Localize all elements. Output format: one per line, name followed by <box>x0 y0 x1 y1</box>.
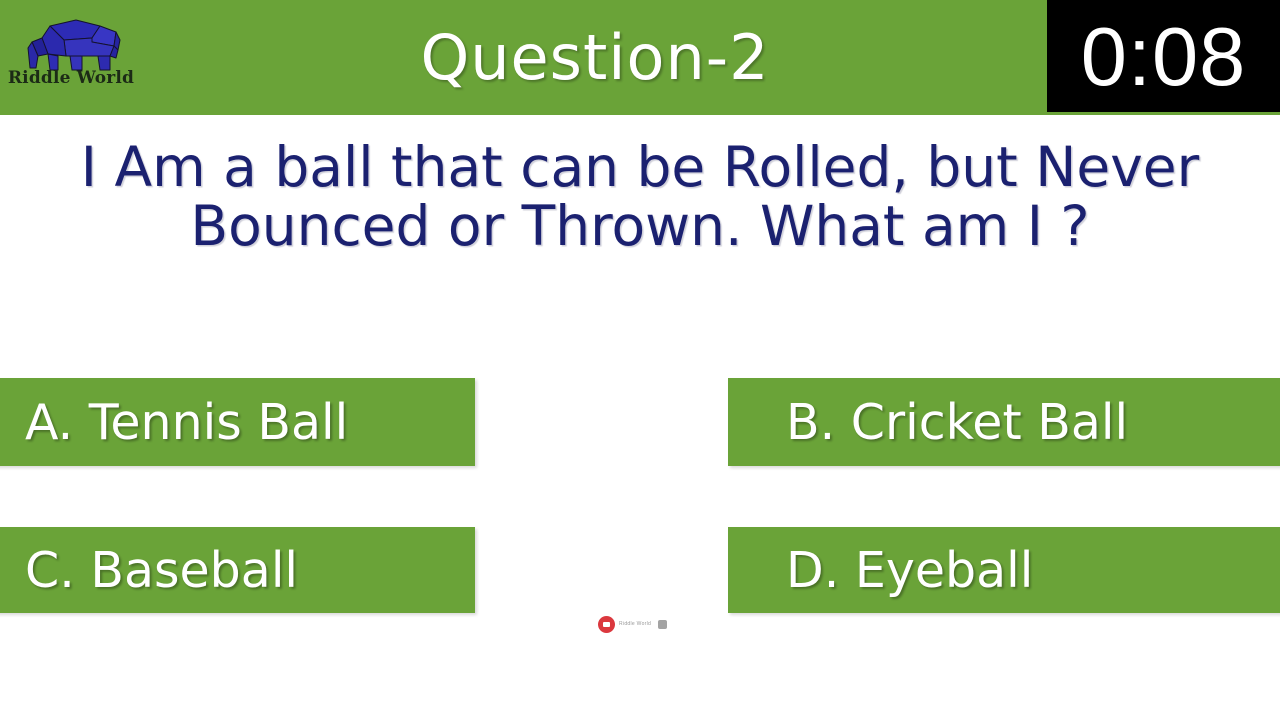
youtube-subscribe-watermark[interactable]: Riddle World <box>598 614 667 634</box>
timer-value: 0:08 <box>1081 15 1247 98</box>
answer-option-b-label: B. Cricket Ball <box>786 398 1128 447</box>
subscribe-bell-icon[interactable] <box>658 620 667 629</box>
answer-option-c-label: C. Baseball <box>25 546 298 595</box>
question-text: I Am a ball that can be Rolled, but Neve… <box>40 138 1240 257</box>
header-bar: Riddle World Question-2 0:08 <box>0 0 1280 115</box>
question-line-2: Bounced or Thrown. What am I ? <box>40 197 1240 256</box>
brand-name: Riddle World <box>6 70 136 87</box>
answer-option-a[interactable]: A. Tennis Ball <box>0 378 475 466</box>
quiz-slide: Riddle World Question-2 0:08 I Am a ball… <box>0 0 1280 720</box>
answer-option-a-label: A. Tennis Ball <box>25 398 348 447</box>
answer-option-b[interactable]: B. Cricket Ball <box>728 378 1280 466</box>
page-title: Question-2 <box>150 0 1040 115</box>
answer-option-d-label: D. Eyeball <box>786 546 1033 595</box>
brand-logo: Riddle World <box>6 16 136 102</box>
watermark-channel-name: Riddle World <box>619 621 651 627</box>
answer-option-c[interactable]: C. Baseball <box>0 527 475 613</box>
question-line-1: I Am a ball that can be Rolled, but Neve… <box>40 138 1240 197</box>
answer-option-d[interactable]: D. Eyeball <box>728 527 1280 613</box>
play-triangle-icon <box>603 622 610 627</box>
origami-elephant-icon <box>14 16 124 74</box>
countdown-timer: 0:08 <box>1047 0 1280 112</box>
youtube-play-icon <box>598 616 615 633</box>
